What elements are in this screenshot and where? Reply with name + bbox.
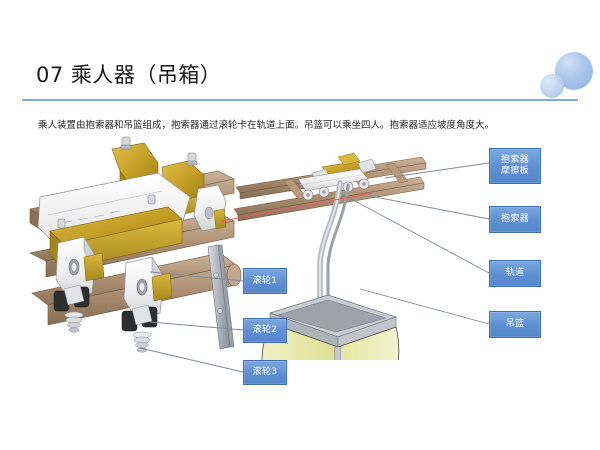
left-detail-assembly	[30, 137, 241, 352]
callout-cabin[interactable]: 吊篮	[489, 311, 541, 338]
callout-line-1: 轨道	[506, 268, 525, 279]
small-blue-circle-icon	[540, 74, 564, 98]
callout-track[interactable]: 轨道	[489, 260, 541, 287]
detail-end-bracket	[194, 185, 226, 231]
callout-roller-2[interactable]: 滚轮2	[243, 318, 287, 343]
title-divider	[22, 99, 578, 101]
callout-roller-3[interactable]: 滚轮3	[243, 360, 287, 385]
callout-line-2: 摩擦板	[501, 166, 529, 177]
callout-line-1: 抱索器	[501, 214, 529, 225]
spring-stack-1	[65, 312, 83, 332]
slide-root: 07 乘人器（吊箱） 乘人装置由抱索器和吊篮组成，抱索器通过滚轮卡在轨道上面。吊…	[0, 0, 600, 450]
callout-line-1: 吊篮	[506, 319, 525, 330]
callout-line-1: 滚轮1	[253, 276, 278, 287]
callout-grip[interactable]: 抱索器	[489, 206, 541, 233]
page-title: 07 乘人器（吊箱）	[36, 59, 221, 89]
callout-roller-1[interactable]: 滚轮1	[243, 268, 287, 294]
spring-stack-2	[133, 332, 151, 352]
callout-line-1: 滚轮2	[253, 325, 278, 336]
subtitle-text: 乘人装置由抱索器和吊篮组成，抱索器通过滚轮卡在轨道上面。吊篮可以乘坐四人。抱索器…	[38, 117, 494, 131]
callout-line-1: 抱索器	[501, 155, 529, 166]
callout-grip-friction-plate[interactable]: 抱索器 摩擦板	[489, 148, 541, 184]
callout-line-1: 滚轮3	[253, 367, 278, 378]
